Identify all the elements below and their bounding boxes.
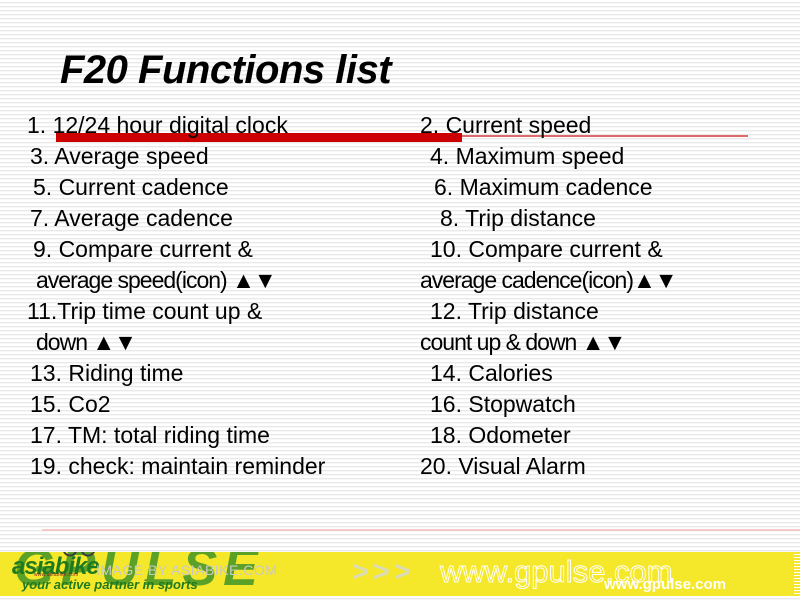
function-item-8: 8. Trip distance <box>440 203 596 234</box>
function-item-16: 16. Stopwatch <box>430 389 576 420</box>
function-item-10: 10. Compare current & <box>430 234 663 265</box>
function-item-9-cont: average speed(icon) ▲▼ <box>36 265 276 296</box>
page-title: F20 Functions list <box>60 48 391 93</box>
list-row: 13. Riding time 14. Calories <box>0 358 800 389</box>
function-item-19: 19. check: maintain reminder <box>30 451 325 482</box>
image-credit-watermark: IMAGE BY ASIABIKE.COM <box>96 562 277 578</box>
function-item-2: 2. Current speed <box>420 110 591 141</box>
list-row: 9. Compare current & 10. Compare current… <box>0 234 800 265</box>
list-row: average speed(icon) ▲▼ average cadence(i… <box>0 265 800 296</box>
function-item-3: 3. Average speed <box>30 141 209 172</box>
function-item-12-cont: count up & down ▲▼ <box>420 327 625 358</box>
function-item-9: 9. Compare current & <box>33 234 253 265</box>
banner-edge-texture <box>794 552 800 596</box>
function-item-5: 5. Current cadence <box>33 172 229 203</box>
slide-canvas: F20 Functions list 1. 12/24 hour digital… <box>0 0 800 600</box>
list-row: 5. Current cadence 6. Maximum cadence <box>0 172 800 203</box>
list-row: 17. TM: total riding time 18. Odometer <box>0 420 800 451</box>
asiabike-tagline: your active partner in sports <box>22 577 198 592</box>
list-row: down ▲▼ count up & down ▲▼ <box>0 327 800 358</box>
list-row: 3. Average speed 4. Maximum speed <box>0 141 800 172</box>
footer-divider-rule <box>42 529 800 531</box>
functions-list: 1. 12/24 hour digital clock 2. Current s… <box>0 110 800 482</box>
chevrons-decoration: >>> <box>352 556 415 589</box>
function-item-13: 13. Riding time <box>30 358 183 389</box>
function-item-18: 18. Odometer <box>430 420 571 451</box>
gpulse-url-solid: www.gpulse.com <box>604 576 726 593</box>
list-row: 7. Average cadence 8. Trip distance <box>0 203 800 234</box>
function-item-7: 7. Average cadence <box>30 203 233 234</box>
function-item-11: 11.Trip time count up & <box>27 296 262 327</box>
function-item-20: 20. Visual Alarm <box>420 451 586 482</box>
list-row: 15. Co2 16. Stopwatch <box>0 389 800 420</box>
list-row: 19. check: maintain reminder 20. Visual … <box>0 451 800 482</box>
function-item-6: 6. Maximum cadence <box>434 172 653 203</box>
function-item-11-cont: down ▲▼ <box>36 327 136 358</box>
function-item-10-cont: average cadence(icon)▲▼ <box>420 265 677 296</box>
function-item-4: 4. Maximum speed <box>430 141 624 172</box>
function-item-1: 1. 12/24 hour digital clock <box>27 110 288 141</box>
function-item-17: 17. TM: total riding time <box>30 420 270 451</box>
footer-banner: GPULSE asiabike www.asiabike.com your ac… <box>0 552 800 596</box>
function-item-12: 12. Trip distance <box>430 296 599 327</box>
function-item-15: 15. Co2 <box>30 389 111 420</box>
function-item-14: 14. Calories <box>430 358 553 389</box>
list-row: 1. 12/24 hour digital clock 2. Current s… <box>0 110 800 141</box>
list-row: 11.Trip time count up & 12. Trip distanc… <box>0 296 800 327</box>
